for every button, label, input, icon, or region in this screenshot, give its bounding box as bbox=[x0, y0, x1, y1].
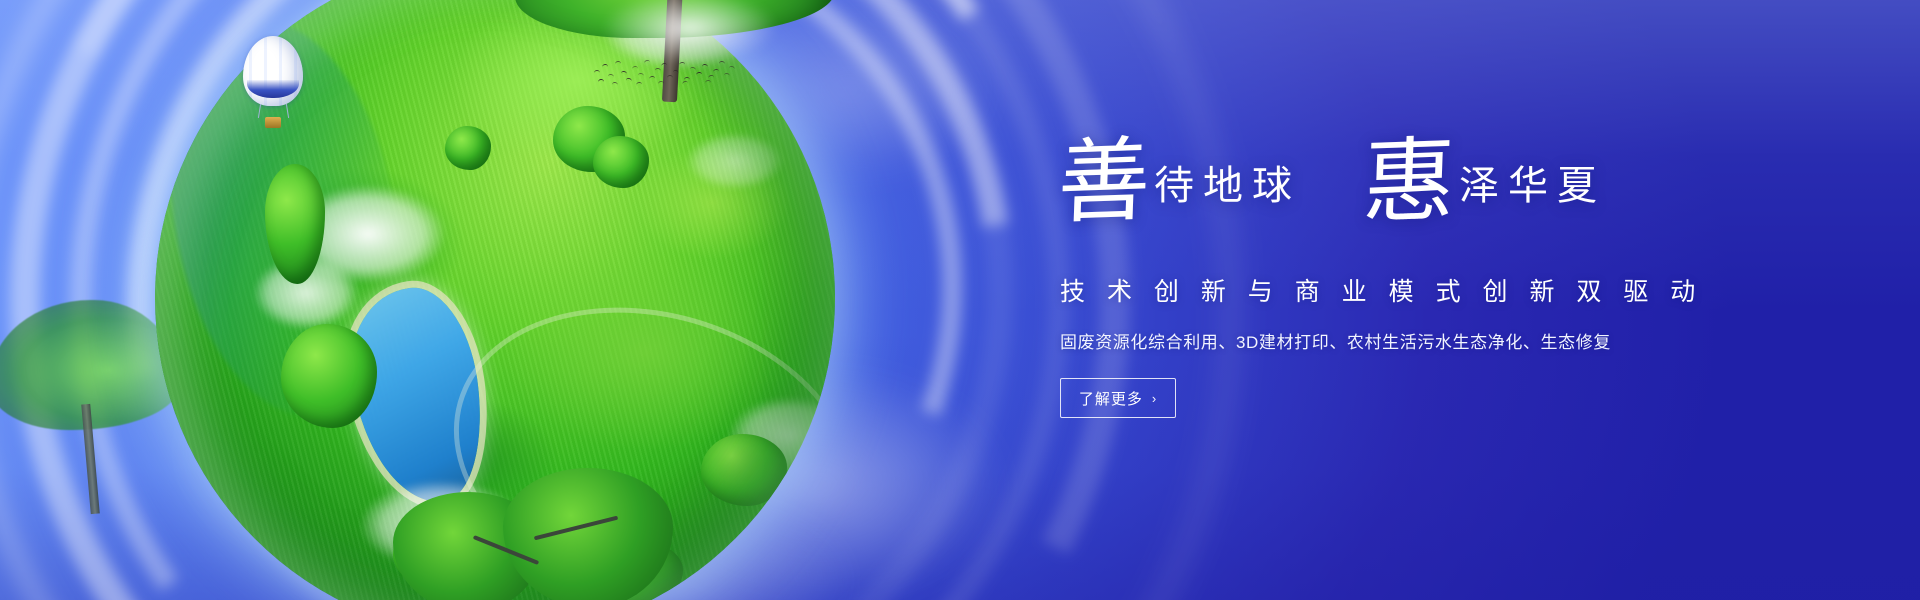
tree-canopy bbox=[393, 492, 543, 600]
balloon-rope bbox=[258, 104, 261, 118]
cloud-ring bbox=[0, 0, 1190, 600]
cloud-haze bbox=[120, 300, 540, 600]
bird-icon bbox=[719, 61, 725, 64]
headline-phrase-1: 善 待地球 bbox=[1058, 140, 1301, 225]
balloon-envelope bbox=[243, 36, 303, 106]
bottom-trees-icon bbox=[383, 456, 683, 600]
bird-icon bbox=[638, 73, 644, 77]
tree-cluster bbox=[265, 164, 325, 284]
tree-cluster bbox=[701, 434, 787, 506]
bird-icon bbox=[673, 69, 679, 73]
hot-air-balloon-icon bbox=[243, 36, 305, 136]
cloud-haze bbox=[640, 0, 1060, 220]
tree-cluster bbox=[563, 536, 683, 600]
bird-icon bbox=[649, 76, 655, 80]
bird-icon bbox=[661, 62, 667, 66]
bird-icon bbox=[632, 66, 638, 70]
bird-icon bbox=[602, 64, 608, 68]
cloud-puff bbox=[241, 248, 371, 338]
left-tree-icon bbox=[0, 300, 180, 530]
cloud-puff bbox=[341, 470, 541, 580]
headline-text-small-2: 泽华夏 bbox=[1459, 166, 1606, 206]
cloud-puff bbox=[585, 0, 775, 78]
banner-subtitle: 技 术 创 新 与 商 业 模 式 创 新 双 驱 动 bbox=[1060, 272, 1703, 308]
tree-trunk bbox=[81, 404, 100, 514]
headline-char-large-2: 惠 bbox=[1361, 138, 1456, 226]
bird-icon bbox=[724, 73, 730, 77]
bird-icon bbox=[690, 66, 696, 70]
balloon-rope bbox=[286, 104, 289, 118]
tree-canopy bbox=[515, 0, 835, 38]
tree-trunk bbox=[662, 0, 683, 102]
tree-cluster bbox=[445, 126, 491, 170]
bird-icon bbox=[702, 64, 708, 68]
headline-phrase-2: 惠 泽华夏 bbox=[1363, 140, 1606, 225]
bird-icon bbox=[658, 81, 664, 84]
banner-content: 善 待地球 惠 泽华夏 技 术 创 新 与 商 业 模 式 创 新 双 驱 动 … bbox=[1058, 0, 1758, 600]
tree-cluster bbox=[593, 136, 649, 188]
banner-description: 固废资源化综合利用、3D建材打印、农村生活污水生态净化、生态修复 bbox=[1060, 328, 1611, 353]
balloon-band bbox=[247, 80, 299, 98]
tree-cluster bbox=[281, 324, 377, 428]
cloud-haze bbox=[460, 470, 920, 600]
headline: 善 待地球 惠 泽华夏 bbox=[1058, 140, 1606, 225]
lake-icon bbox=[341, 280, 494, 511]
cloud-puff bbox=[675, 126, 795, 196]
cloud-ring bbox=[48, 0, 1091, 600]
bird-icon bbox=[667, 75, 673, 78]
bird-icon bbox=[594, 70, 600, 73]
chevron-right-icon: › bbox=[1152, 392, 1157, 405]
cloud-puff bbox=[715, 388, 835, 484]
tree-cluster bbox=[393, 514, 497, 592]
mountain-ridge bbox=[155, 2, 428, 434]
tree-canopy bbox=[503, 468, 673, 600]
bird-icon bbox=[626, 77, 633, 81]
cloud-haze bbox=[560, 320, 1080, 600]
bird-icon bbox=[612, 82, 618, 86]
globe-sphere bbox=[155, 0, 835, 600]
earth-globe-illustration bbox=[155, 0, 835, 600]
bird-icon bbox=[696, 72, 702, 76]
headline-char-large-1: 善 bbox=[1056, 138, 1151, 226]
learn-more-button[interactable]: 了解更多 › bbox=[1060, 378, 1176, 418]
cloud-haze bbox=[300, 40, 820, 270]
bird-icon bbox=[682, 80, 689, 84]
bird-icon bbox=[684, 77, 690, 80]
bird-icon bbox=[708, 74, 715, 78]
bird-icon bbox=[644, 59, 650, 63]
bird-icon bbox=[679, 62, 685, 66]
tree-branch bbox=[473, 535, 539, 565]
headline-text-small-1: 待地球 bbox=[1154, 166, 1301, 206]
bird-icon bbox=[615, 61, 621, 64]
bird-icon bbox=[713, 69, 719, 73]
bird-flock-icon bbox=[592, 52, 732, 92]
bird-icon bbox=[729, 65, 736, 69]
learn-more-label: 了解更多 bbox=[1079, 388, 1143, 409]
cloud-ring bbox=[0, 0, 1150, 600]
bird-icon bbox=[636, 82, 642, 86]
bird-icon bbox=[655, 68, 661, 72]
tree-branch bbox=[534, 516, 618, 541]
tree-mist bbox=[575, 0, 805, 76]
balloon-basket bbox=[265, 117, 281, 128]
cloud-puff bbox=[273, 174, 463, 294]
bird-icon bbox=[621, 71, 627, 75]
hero-banner: 善 待地球 惠 泽华夏 技 术 创 新 与 商 业 模 式 创 新 双 驱 动 … bbox=[0, 0, 1920, 600]
bird-icon bbox=[598, 79, 604, 82]
tree-canopy bbox=[0, 300, 180, 430]
large-tree-icon bbox=[515, 0, 835, 118]
tree-cluster bbox=[553, 106, 625, 172]
globe-atmosphere-glow bbox=[100, 0, 890, 600]
river-icon bbox=[424, 268, 835, 600]
bird-icon bbox=[608, 74, 614, 78]
bird-icon bbox=[705, 80, 711, 83]
